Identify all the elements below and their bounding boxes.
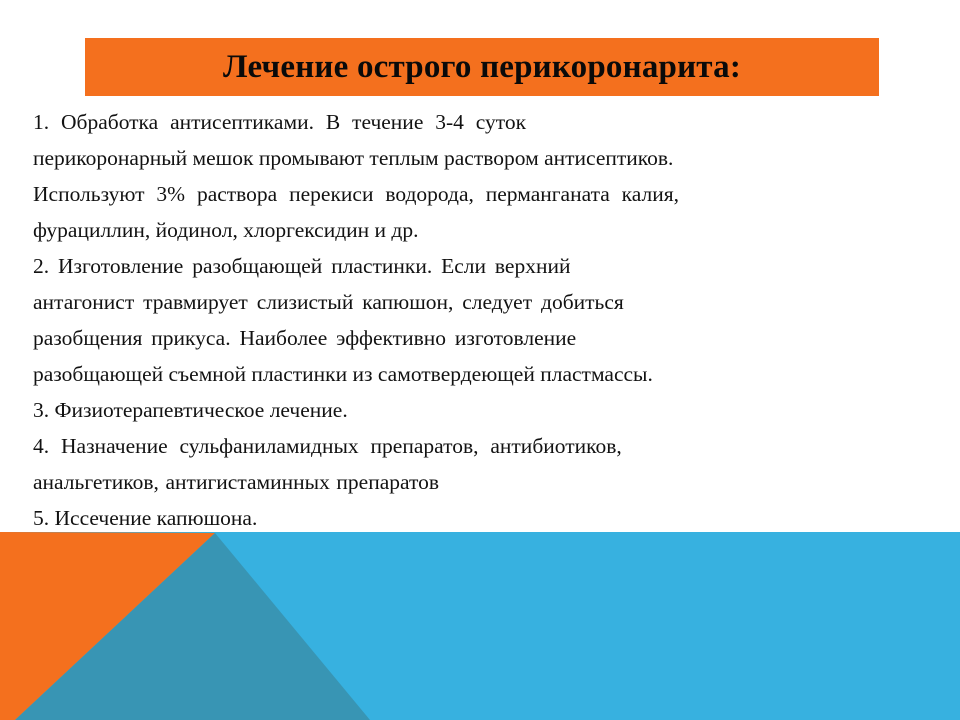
- body-line: 1. Обработка антисептиками. В течение 3-…: [33, 104, 933, 140]
- decoration-teal-triangle: [15, 533, 370, 720]
- body-line: Используют 3% раствора перекиси водорода…: [33, 176, 933, 212]
- body-line: 3. Физиотерапевтическое лечение.: [33, 392, 933, 428]
- slide: Лечение острого перикоронарита: 1. Обраб…: [0, 0, 960, 720]
- page-title: Лечение острого перикоронарита:: [223, 51, 741, 84]
- body-line: анальгетиков, антигистаминных препаратов: [33, 464, 933, 500]
- body-line: разобщения прикуса. Наиболее эффективно …: [33, 320, 933, 356]
- title-banner: Лечение острого перикоронарита:: [85, 38, 879, 96]
- body-line: 2. Изготовление разобщающей пластинки. Е…: [33, 248, 933, 284]
- body-text-block: 1. Обработка антисептиками. В течение 3-…: [33, 104, 933, 536]
- body-line: фурациллин, йодинол, хлоргексидин и др.: [33, 212, 933, 248]
- body-line: разобщающей съемной пластинки из самотве…: [33, 356, 933, 392]
- body-line: 4. Назначение сульфаниламидных препарато…: [33, 428, 933, 464]
- decoration-light-blue-band: [0, 532, 960, 720]
- decoration-orange-wedge: [0, 532, 215, 720]
- body-line: 5. Иссечение капюшона.: [33, 500, 933, 536]
- body-line: перикоронарный мешок промывают теплым ра…: [33, 140, 933, 176]
- body-line: антагонист травмирует слизистый капюшон,…: [33, 284, 933, 320]
